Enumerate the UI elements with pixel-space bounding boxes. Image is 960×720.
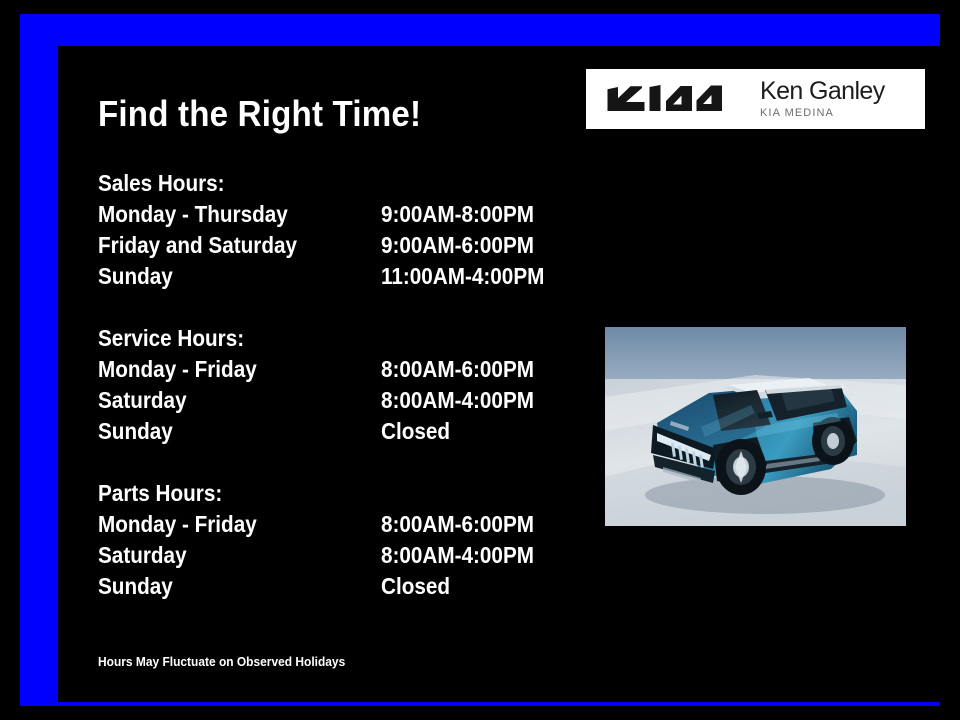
hours-list: Sales Hours:Monday - Thursday9:00AM-8:00…: [98, 168, 618, 602]
hours-row: Sunday11:00AM-4:00PM: [98, 261, 618, 292]
hours-row-days: Sunday: [98, 571, 353, 602]
hours-row: Friday and Saturday9:00AM-6:00PM: [98, 230, 618, 261]
dealer-name: Ken Ganley: [760, 78, 885, 104]
hours-row-days: Monday - Friday: [98, 509, 353, 540]
slide-content-area: Find the Right Time! Sales Hours:Monday …: [58, 46, 942, 702]
hours-block-title: Service Hours:: [98, 323, 566, 354]
blue-border-frame: Find the Right Time! Sales Hours:Monday …: [20, 14, 940, 706]
hours-row-days: Saturday: [98, 540, 353, 571]
slide-root: Find the Right Time! Sales Hours:Monday …: [0, 0, 960, 720]
hours-row-time: 8:00AM-4:00PM: [381, 540, 534, 571]
hours-block: Sales Hours:Monday - Thursday9:00AM-8:00…: [98, 168, 618, 292]
holiday-disclaimer: Hours May Fluctuate on Observed Holidays: [98, 654, 345, 670]
dealer-name-block: Ken Ganley KIA MEDINA: [760, 78, 885, 120]
page-title: Find the Right Time!: [98, 94, 421, 134]
hours-row-time: 8:00AM-6:00PM: [381, 509, 534, 540]
hours-row: Saturday8:00AM-4:00PM: [98, 385, 618, 416]
hours-block: Service Hours:Monday - Friday8:00AM-6:00…: [98, 323, 618, 447]
dealer-subtitle: KIA MEDINA: [760, 106, 885, 120]
hours-row: Saturday8:00AM-4:00PM: [98, 540, 618, 571]
kia-logo-icon: [604, 84, 724, 114]
hours-row-days: Sunday: [98, 261, 353, 292]
hours-row: Monday - Thursday9:00AM-8:00PM: [98, 199, 618, 230]
hours-row-time: Closed: [381, 416, 450, 447]
hours-block-title: Sales Hours:: [98, 168, 566, 199]
hours-row: SundayClosed: [98, 416, 618, 447]
hours-row-time: 8:00AM-6:00PM: [381, 354, 534, 385]
hours-row-days: Monday - Friday: [98, 354, 353, 385]
hours-row-time: 9:00AM-8:00PM: [381, 199, 534, 230]
hours-row-time: 8:00AM-4:00PM: [381, 385, 534, 416]
hours-block-title: Parts Hours:: [98, 478, 566, 509]
hours-row-time: Closed: [381, 571, 450, 602]
hours-row-days: Monday - Thursday: [98, 199, 353, 230]
hours-block: Parts Hours:Monday - Friday8:00AM-6:00PM…: [98, 478, 618, 602]
hours-row: Monday - Friday8:00AM-6:00PM: [98, 509, 618, 540]
hours-row-days: Friday and Saturday: [98, 230, 353, 261]
hours-row-time: 9:00AM-6:00PM: [381, 230, 534, 261]
hours-row-days: Sunday: [98, 416, 353, 447]
hours-row: Monday - Friday8:00AM-6:00PM: [98, 354, 618, 385]
vehicle-photo: [605, 327, 906, 526]
dealer-logo-card: Ken Ganley KIA MEDINA: [586, 69, 925, 129]
hours-row-days: Saturday: [98, 385, 353, 416]
hours-row: SundayClosed: [98, 571, 618, 602]
hours-row-time: 11:00AM-4:00PM: [381, 261, 544, 292]
